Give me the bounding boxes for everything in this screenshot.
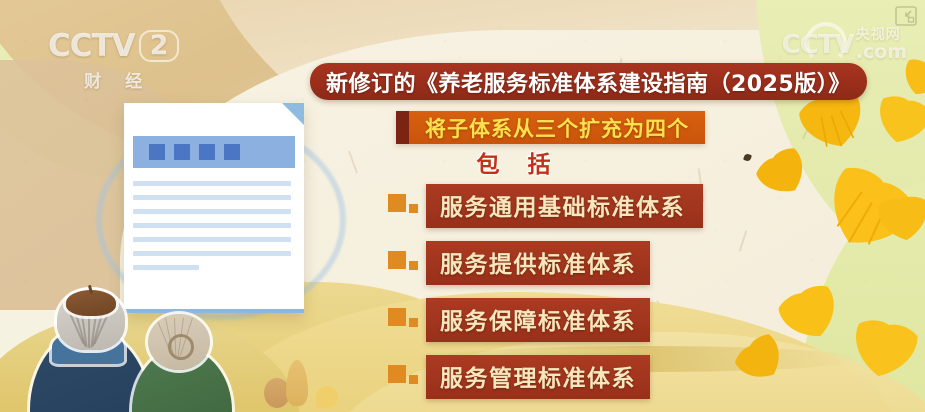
list-item-label: 服务通用基础标准体系 (440, 195, 685, 221)
document-header-square (174, 144, 190, 160)
square-bullet-icon (388, 364, 426, 390)
subtitle-text: 将子体系从三个扩充为四个 (425, 113, 689, 143)
channel-logo-number: 2 (139, 30, 180, 62)
document-text-line (133, 237, 291, 242)
list-item: 服务通用基础标准体系 (388, 184, 703, 228)
policy-document-illustration (124, 103, 304, 313)
document-text-line (133, 265, 199, 270)
channel-logo: CCTV 2 财 经 (48, 28, 179, 92)
list-item-banner: 服务管理标准体系 (426, 355, 650, 399)
subtitle-band-edge (396, 111, 409, 144)
list-item-banner: 服务通用基础标准体系 (426, 184, 703, 228)
watermark-site-cn: 央视网 (856, 28, 907, 42)
document-text-line (133, 209, 291, 214)
square-bullet-icon (388, 307, 426, 333)
square-bullet-icon (388, 250, 426, 276)
restore-window-icon[interactable] (895, 6, 917, 26)
document-header-bar (133, 136, 295, 168)
document-text-line (133, 195, 291, 200)
page-fold-corner-icon (282, 103, 304, 125)
list-item-label: 服务提供标准体系 (440, 252, 636, 278)
square-bullet-icon (388, 193, 426, 219)
channel-logo-subtitle: 财 经 (48, 67, 179, 92)
document-text-line (133, 223, 291, 228)
shrub-icon (316, 386, 338, 408)
list-item-label: 服务管理标准体系 (440, 366, 636, 392)
document-text-line (133, 251, 291, 256)
headline-banner: 新修订的《养老服务标准体系建设指南（2025版）》 (310, 63, 867, 100)
document-text-lines (133, 181, 291, 279)
document-header-square (149, 144, 165, 160)
document-header-square (224, 144, 240, 160)
broadcast-graphic-screen: CCTV 2 财 经 CCTV 央视网 .com 新修订的《养老服务标准体系建设… (0, 0, 925, 412)
list-item: 服务提供标准体系 (388, 241, 703, 285)
elderly-woman-hair-bun (168, 334, 194, 360)
list-item-banner: 服务提供标准体系 (426, 241, 650, 285)
headline-title: 新修订的《养老服务标准体系建设指南（2025版）》 (326, 66, 851, 98)
watermark-domain: .com (856, 43, 907, 62)
list-item: 服务管理标准体系 (388, 355, 703, 399)
list-item: 服务保障标准体系 (388, 298, 703, 342)
site-watermark: CCTV 央视网 .com (782, 28, 907, 62)
channel-logo-brand: CCTV (48, 28, 135, 64)
subtitle-band: 将子体系从三个扩充为四个 (396, 111, 705, 144)
document-text-line (133, 181, 291, 186)
watermark-brand: CCTV (782, 30, 854, 60)
list-item-banner: 服务保障标准体系 (426, 298, 650, 342)
list-item-label: 服务保障标准体系 (440, 309, 636, 335)
document-header-square (199, 144, 215, 160)
ginkgo-leaf-icon (872, 192, 925, 246)
subsystem-list: 服务通用基础标准体系 服务提供标准体系 服务保障标准体系 服务管理标准 (388, 184, 703, 412)
subtitle-band-body: 将子体系从三个扩充为四个 (409, 111, 705, 144)
